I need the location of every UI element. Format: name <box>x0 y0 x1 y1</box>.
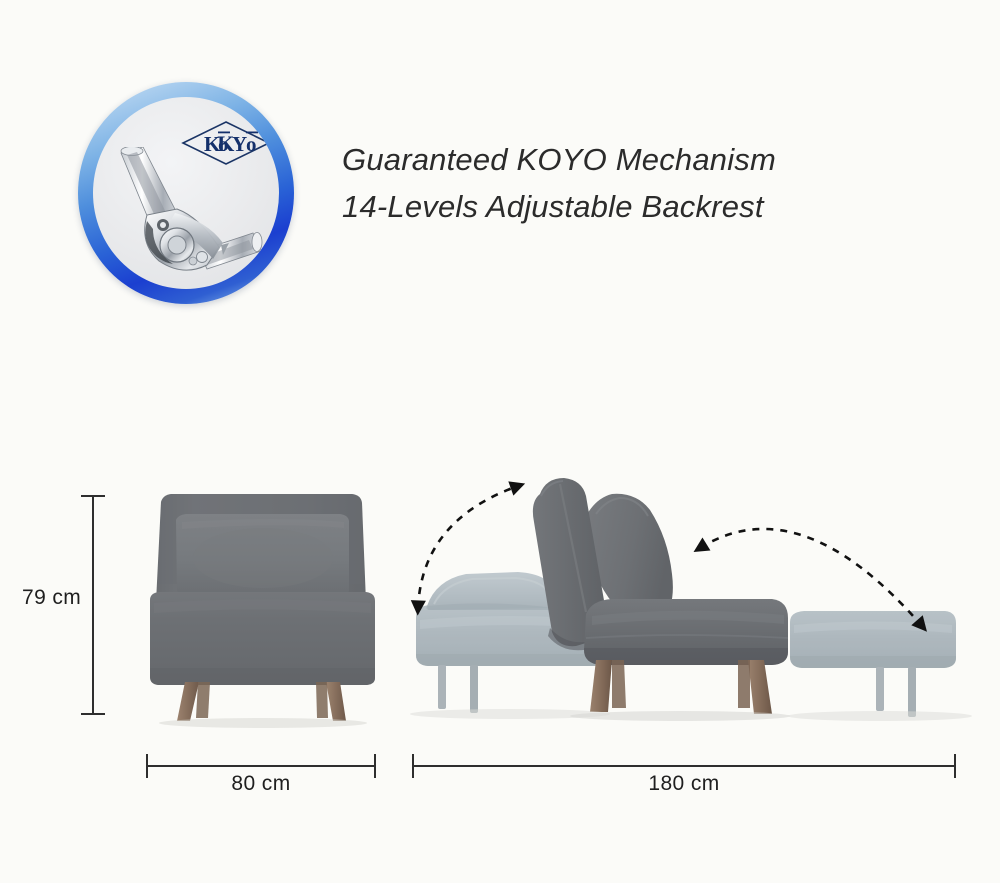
product-armchair-upright <box>130 472 395 730</box>
ghost-leg-left-1 <box>438 665 446 709</box>
ghost-leg-left-2 <box>470 665 478 713</box>
ghost-pillow-flat <box>426 572 559 610</box>
dimension-line-width-bed <box>412 765 956 767</box>
chair-leg-front-right <box>326 682 346 721</box>
koyo-mechanism-badge: K K o Y o <box>78 82 294 304</box>
dimension-line-width-chair <box>146 765 376 767</box>
dimension-label-height: 79 cm <box>22 586 81 610</box>
headline-block: Guaranteed KOYO Mechanism 14-Levels Adju… <box>342 136 902 230</box>
hinge-mechanism-icon <box>103 147 273 279</box>
badge-inner-face: K K o Y o <box>93 97 279 289</box>
dimension-line-height <box>92 495 94 715</box>
dimension-label-width-bed: 180 cm <box>412 772 956 796</box>
product-sofa-bed-unfolded <box>400 462 980 730</box>
ghost-leg-right-2 <box>908 667 916 717</box>
infographic-canvas: K K o Y o <box>0 0 1000 883</box>
sofabed-leg-left <box>590 660 612 712</box>
sofabed-seat-base <box>584 599 788 665</box>
ghost-platform-right <box>790 611 956 717</box>
dimension-cap-bottom <box>81 713 105 715</box>
dimension-cap-top <box>81 495 105 497</box>
dimension-label-width-chair: 80 cm <box>146 772 376 796</box>
headline-line-1: Guaranteed KOYO Mechanism <box>342 142 776 177</box>
ghost-leg-right-1 <box>876 667 884 711</box>
sofabed-leg-right <box>748 660 772 714</box>
headline-line-2: 14-Levels Adjustable Backrest <box>342 183 902 230</box>
chair-leg-front-left <box>177 682 199 721</box>
